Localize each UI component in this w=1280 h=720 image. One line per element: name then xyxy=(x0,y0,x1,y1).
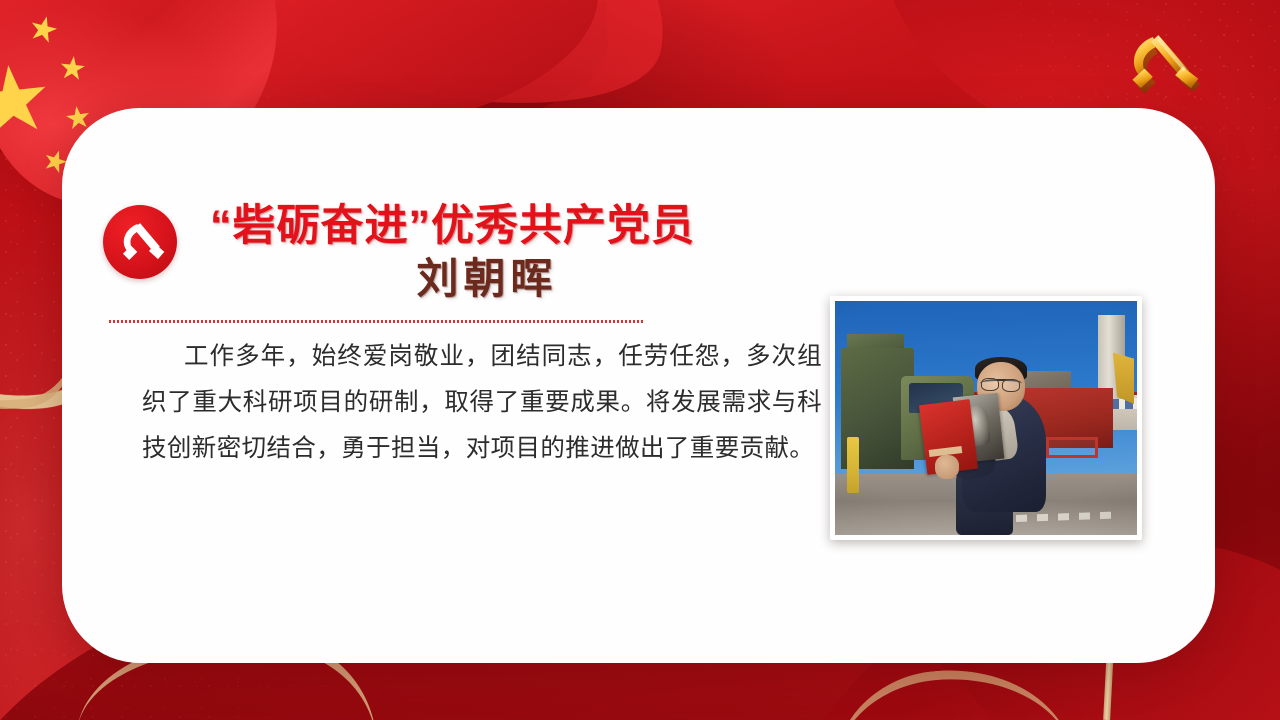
party-emblem-badge-icon xyxy=(103,205,177,279)
photo-vignette xyxy=(835,301,1137,535)
person-photo-frame xyxy=(830,296,1142,540)
body-paragraph: 工作多年，始终爱岗敬业，团结同志，任劳任怨，多次组织了重大科研项目的研制，取得了… xyxy=(142,334,822,472)
person-photo xyxy=(835,301,1137,535)
person-name: 刘朝晖 xyxy=(210,257,850,302)
page-title: “砦砺奋进”优秀共产党员 xyxy=(210,204,850,250)
gold-party-emblem-icon xyxy=(1116,24,1212,102)
content-card: “砦砺奋进”优秀共产党员 刘朝晖 工作多年，始终爱岗敬业，团结同志，任劳任怨，多… xyxy=(62,108,1215,663)
slide-canvas: “砦砺奋进”优秀共产党员 刘朝晖 工作多年，始终爱岗敬业，团结同志，任劳任怨，多… xyxy=(0,0,1280,720)
dotted-divider xyxy=(109,320,645,323)
title-block: “砦砺奋进”优秀共产党员 刘朝晖 xyxy=(210,204,850,301)
